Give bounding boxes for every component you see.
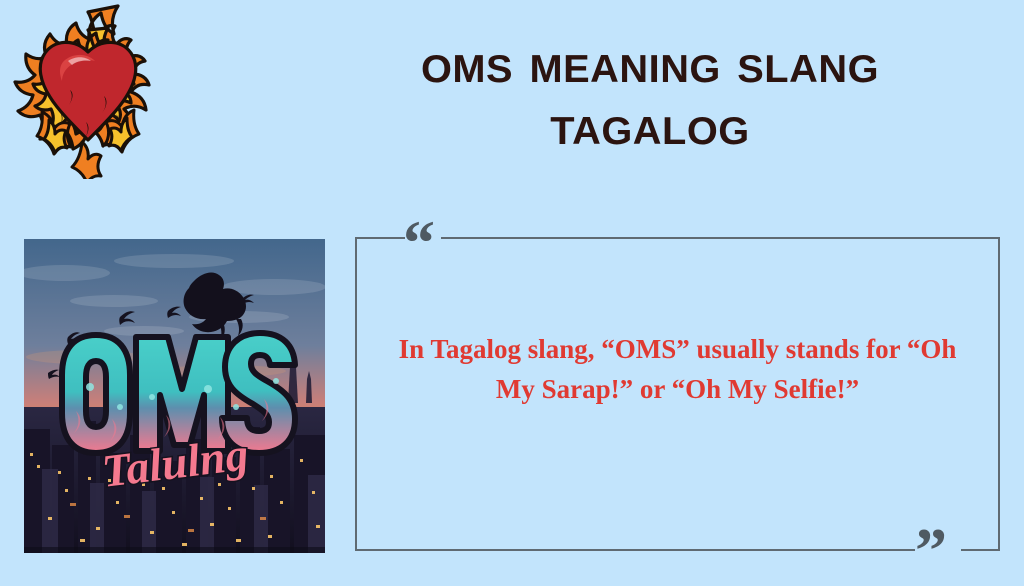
flaming-heart-logo	[8, 4, 168, 179]
quote-border-right	[998, 237, 1000, 551]
quote-close-icon: ”	[915, 519, 947, 583]
quote-border-top-right	[441, 237, 1000, 239]
quote-border-bottom-right	[961, 549, 1000, 551]
quote-open-icon: “	[403, 211, 435, 275]
infographic-canvas: { "background_color": "#c2e4fc", "logo":…	[0, 0, 1024, 572]
title-line-2: Tagalog	[324, 94, 977, 156]
quote-text: In Tagalog slang, “OMS” usually stands f…	[393, 329, 962, 409]
quote-border-left	[355, 237, 357, 551]
quote-border-top-left	[355, 237, 405, 239]
quote-border-bottom-left	[355, 549, 915, 551]
title-line-1: OMS Meaning Slang	[324, 32, 977, 94]
oms-tagalog-thumbnail: Talulng	[24, 239, 325, 553]
quote-card: “ In Tagalog slang, “OMS” usually stands…	[355, 237, 1000, 551]
page-title: OMS Meaning Slang Tagalog	[330, 32, 970, 156]
